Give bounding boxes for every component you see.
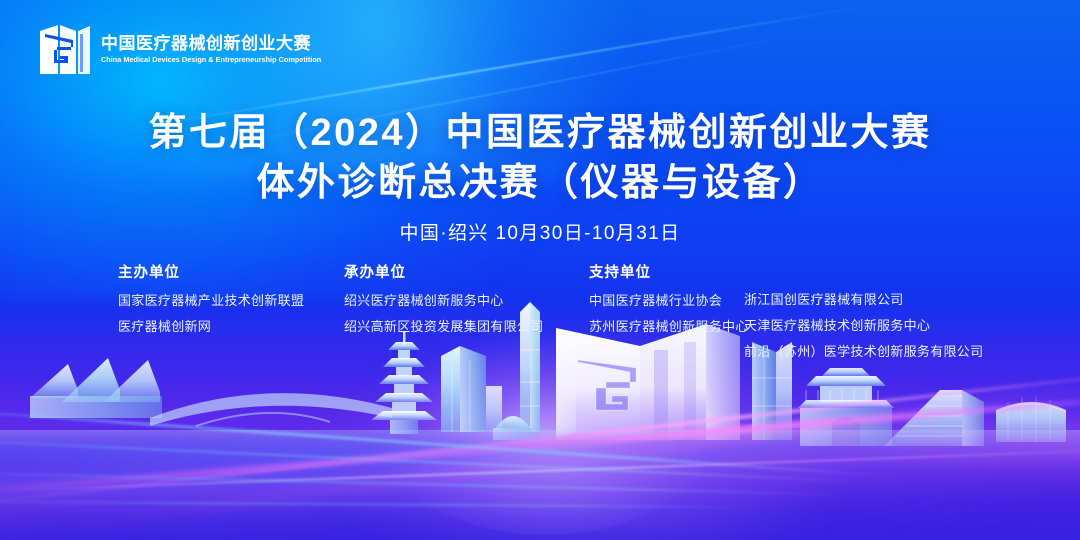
title-line-2: 体外诊断总决赛（仪器与设备） (0, 158, 1080, 208)
organizer-columns: 主办单位 国家医疗器械产业技术创新联盟 医疗器械创新网 承办单位 绍兴医疗器械创… (118, 266, 1004, 371)
organizer-item: 前沿（苏州）医学技术创新服务有限公司 (744, 345, 1004, 358)
event-location-date: 中国·绍兴 10月30日-10月31日 (0, 218, 1080, 245)
organizer-item: 浙江国创医疗器械有限公司 (744, 293, 1004, 306)
title-line-1: 第七届（2024）中国医疗器械创新创业大赛 (0, 108, 1080, 158)
organizer-item: 绍兴高新区投资发展集团有限公司 (344, 320, 589, 333)
organizer-column-header: 主办单位 (118, 266, 344, 281)
organizer-item: 天津医疗器械技术创新服务中心 (744, 319, 1004, 332)
organizer-item: 苏州医疗器械创新服务中心 (589, 320, 744, 333)
bottom-sheen (0, 440, 1080, 540)
organizer-item: 中国医疗器械行业协会 (589, 294, 744, 307)
bridge-arch-shape (150, 393, 392, 426)
organizer-column-support: 支持单位 中国医疗器械行业协会 苏州医疗器械创新服务中心 (589, 266, 744, 346)
cmdc-open-book-logo-icon (38, 22, 92, 77)
organizer-column-coorganizer: 承办单位 绍兴医疗器械创新服务中心 绍兴高新区投资发展集团有限公司 (344, 266, 589, 346)
organizer-item: 绍兴医疗器械创新服务中心 (344, 294, 589, 307)
competition-poster: 中国医疗器械创新创业大赛 China Medical Devices Desig… (0, 0, 1080, 540)
organizer-column-host: 主办单位 国家医疗器械产业技术创新联盟 医疗器械创新网 (118, 266, 344, 346)
logo-english-name: China Medical Devices Design & Entrepren… (101, 55, 321, 65)
event-logo: 中国医疗器械创新创业大赛 China Medical Devices Desig… (38, 22, 328, 77)
organizer-column-support-extra: 浙江国创医疗器械有限公司 天津医疗器械技术创新服务中心 前沿（苏州）医学技术创新… (744, 266, 1004, 371)
organizer-item: 医疗器械创新网 (118, 320, 344, 333)
organizer-column-header: 承办单位 (344, 266, 589, 281)
organizer-column-header: 支持单位 (589, 266, 744, 281)
logo-chinese-name: 中国医疗器械创新创业大赛 (101, 34, 328, 54)
organizer-item: 国家医疗器械产业技术创新联盟 (118, 294, 344, 307)
page-title: 第七届（2024）中国医疗器械创新创业大赛 体外诊断总决赛（仪器与设备） (0, 108, 1080, 208)
